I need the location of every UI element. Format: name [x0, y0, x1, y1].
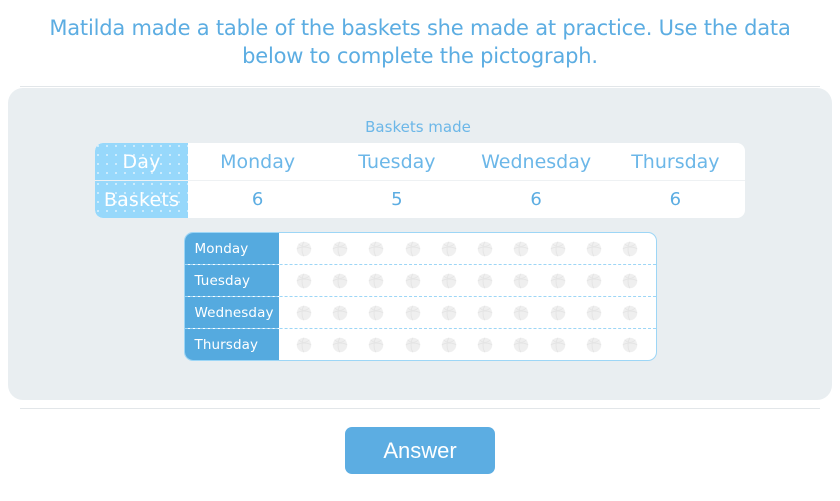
pictograph-row[interactable]: Tuesday — [185, 264, 656, 296]
basketball-icon[interactable] — [332, 241, 348, 257]
basketball-icon[interactable] — [622, 273, 638, 289]
table-cell-baskets-1: 5 — [327, 180, 466, 218]
pictograph-row-label: Monday — [185, 233, 279, 264]
basketball-icon[interactable] — [405, 305, 421, 321]
basketball-icon[interactable] — [332, 273, 348, 289]
basketball-icon[interactable] — [441, 273, 457, 289]
basketball-icon[interactable] — [513, 273, 529, 289]
answer-button[interactable]: Answer — [345, 427, 494, 474]
pictograph-row-label: Tuesday — [185, 265, 279, 296]
pictograph-row-label: Thursday — [185, 329, 279, 360]
table-rowheader-baskets: Baskets — [95, 180, 188, 218]
basketball-icon[interactable] — [368, 305, 384, 321]
question-block: Matilda made a table of the baskets she … — [0, 0, 840, 76]
table-row-baskets: Baskets 6 5 6 6 — [95, 180, 745, 218]
basketball-icon[interactable] — [405, 337, 421, 353]
basketball-icon[interactable] — [368, 273, 384, 289]
table-cell-baskets-0: 6 — [188, 180, 327, 218]
pictograph[interactable]: MondayTuesdayWednesdayThursday — [184, 232, 657, 361]
basketball-icon[interactable] — [477, 305, 493, 321]
top-divider — [20, 86, 820, 87]
basketball-icon[interactable] — [405, 241, 421, 257]
pictograph-slot-area[interactable] — [279, 297, 656, 328]
basketball-icon[interactable] — [368, 241, 384, 257]
basketball-icon[interactable] — [586, 337, 602, 353]
table-cell-baskets-3: 6 — [606, 180, 745, 218]
exercise-panel: Baskets made Day Monday Tuesday Wednesda… — [8, 88, 832, 400]
pictograph-row[interactable]: Thursday — [185, 328, 656, 360]
table-rowheader-day: Day — [95, 143, 188, 180]
basketball-icon[interactable] — [550, 273, 566, 289]
basketball-icon[interactable] — [441, 305, 457, 321]
table-row-days: Day Monday Tuesday Wednesday Thursday — [95, 143, 745, 180]
basketball-icon[interactable] — [296, 273, 312, 289]
pictograph-slot-area[interactable] — [279, 233, 656, 264]
basketball-icon[interactable] — [477, 337, 493, 353]
basketball-icon[interactable] — [586, 273, 602, 289]
table-cell-day-0: Monday — [188, 143, 327, 180]
data-table: Day Monday Tuesday Wednesday Thursday Ba… — [95, 143, 745, 218]
basketball-icon[interactable] — [441, 241, 457, 257]
data-table-wrapper: Day Monday Tuesday Wednesday Thursday Ba… — [95, 143, 745, 218]
basketball-icon[interactable] — [586, 305, 602, 321]
basketball-icon[interactable] — [550, 241, 566, 257]
question-text: Matilda made a table of the baskets she … — [28, 14, 812, 70]
pictograph-row-label: Wednesday — [185, 297, 279, 328]
basketball-icon[interactable] — [622, 241, 638, 257]
table-caption: Baskets made — [4, 118, 832, 136]
basketball-icon[interactable] — [550, 305, 566, 321]
basketball-icon[interactable] — [477, 273, 493, 289]
basketball-icon[interactable] — [441, 337, 457, 353]
table-cell-day-1: Tuesday — [327, 143, 466, 180]
pictograph-row[interactable]: Wednesday — [185, 296, 656, 328]
table-cell-day-3: Thursday — [606, 143, 745, 180]
basketball-icon[interactable] — [513, 337, 529, 353]
basketball-icon[interactable] — [332, 337, 348, 353]
basketball-icon[interactable] — [296, 241, 312, 257]
basketball-icon[interactable] — [296, 337, 312, 353]
basketball-icon[interactable] — [622, 305, 638, 321]
basketball-icon[interactable] — [550, 337, 566, 353]
table-cell-day-2: Wednesday — [467, 143, 606, 180]
basketball-icon[interactable] — [586, 241, 602, 257]
pictograph-row[interactable]: Monday — [185, 233, 656, 264]
basketball-icon[interactable] — [405, 273, 421, 289]
pictograph-slot-area[interactable] — [279, 329, 656, 360]
basketball-icon[interactable] — [332, 305, 348, 321]
table-cell-baskets-2: 6 — [467, 180, 606, 218]
bottom-divider — [20, 408, 820, 409]
pictograph-slot-area[interactable] — [279, 265, 656, 296]
basketball-icon[interactable] — [513, 305, 529, 321]
basketball-icon[interactable] — [513, 241, 529, 257]
basketball-icon[interactable] — [296, 305, 312, 321]
basketball-icon[interactable] — [368, 337, 384, 353]
basketball-icon[interactable] — [477, 241, 493, 257]
basketball-icon[interactable] — [622, 337, 638, 353]
answer-zone: Answer — [0, 408, 840, 474]
